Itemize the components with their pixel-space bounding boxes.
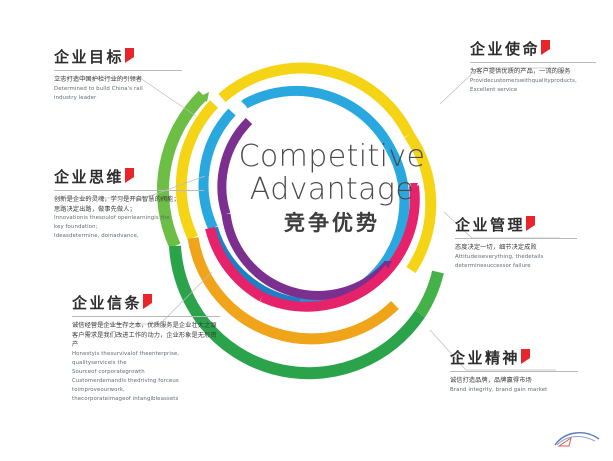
callout-thinking-title: 企业思维 xyxy=(54,166,124,187)
callout-goal-en-1: industry leader xyxy=(54,94,182,103)
callout-goal[interactable]: 企业目标 立志打造中国护栏行业的引领者 Determined to build … xyxy=(54,46,182,103)
callout-mission-title: 企业使命 xyxy=(470,38,540,59)
callout-thinking[interactable]: 企业思维 创新是企业的灵魂，学习是开启智慧的阀能； 思路决定出路，做事先做人； … xyxy=(54,166,204,241)
callout-management-en-1: determinesuccessor failure xyxy=(455,262,577,271)
callout-goal-rule xyxy=(54,70,182,71)
red-flag-icon xyxy=(541,40,550,55)
red-flag-icon xyxy=(526,216,535,231)
callout-management-en-0: Attitudeiseverything, thedetails xyxy=(455,253,577,262)
callout-creed-head: 企业信条 xyxy=(72,292,220,313)
callout-mission-en-0: Providecustomerswithqualityproducts, xyxy=(470,77,596,86)
callout-mission-cn-0: 为客户提供优质的产品，一流的服务 xyxy=(470,67,596,77)
red-flag-icon xyxy=(521,349,530,364)
callout-creed-cn-0: 诚信经营是企业生存之本，优质服务是企业壮大之源 xyxy=(72,321,220,331)
corner-watermark-icon xyxy=(551,425,603,449)
callout-creed-en-1: Sourceof corporategrowth xyxy=(72,368,220,377)
ring-arc-purple xyxy=(222,121,388,295)
callout-thinking-head: 企业思维 xyxy=(54,166,204,187)
callout-goal-title: 企业目标 xyxy=(54,46,124,67)
callout-creed-cn-1: 客户需求是我们改进工作的动力，企业形象是无形资产 xyxy=(72,331,220,350)
callout-spirit-rule xyxy=(450,371,578,372)
infographic-slide: Competitive Advantage 竞争优势 企业目标 立志打造中国护栏… xyxy=(0,0,613,461)
callout-management-title: 企业管理 xyxy=(455,214,525,235)
callout-thinking-rule xyxy=(54,190,204,191)
callout-goal-cn-0: 立志打造中国护栏行业的引领者 xyxy=(54,75,182,85)
callout-thinking-en-1: key foundation; xyxy=(54,223,204,232)
callout-goal-en-0: Determined to build China's rail xyxy=(54,85,182,94)
callout-spirit-cn-0: 诚信打造品牌，品牌赢得市场 xyxy=(450,376,578,386)
callout-management-rule xyxy=(455,238,577,239)
callout-thinking-cn-1: 思路决定出路，做事先做人； xyxy=(54,205,204,215)
callout-mission-en-1: Excellent service xyxy=(470,86,596,95)
callout-management-cn-0: 态度决定一切，细节决定成败 xyxy=(455,243,577,253)
callout-thinking-cn-0: 创新是企业的灵魂，学习是开启智慧的阀能； xyxy=(54,195,204,205)
callout-thinking-en-2: Ideasdetermine, doinadvance, xyxy=(54,232,204,241)
callout-creed-en-0: Honestyis thesurvivalof theenterprise, q… xyxy=(72,350,220,368)
callout-spirit-head: 企业精神 xyxy=(450,347,578,368)
callout-creed-en-2: Customerdemandis thedriving forceus toim… xyxy=(72,377,220,395)
red-flag-icon xyxy=(143,294,152,309)
callout-mission-head: 企业使命 xyxy=(470,38,596,59)
callout-spirit[interactable]: 企业精神 诚信打造品牌，品牌赢得市场 Brand integrity, bran… xyxy=(450,347,578,395)
callout-creed-rule xyxy=(72,316,220,317)
red-flag-icon xyxy=(125,168,134,183)
callout-creed-title: 企业信条 xyxy=(72,292,142,313)
callout-goal-head: 企业目标 xyxy=(54,46,182,67)
callout-creed[interactable]: 企业信条 诚信经营是企业生存之本，优质服务是企业壮大之源 客户需求是我们改进工作… xyxy=(72,292,220,404)
callout-mission-rule xyxy=(470,62,596,63)
callout-mission[interactable]: 企业使命 为客户提供优质的产品，一流的服务 Providecustomerswi… xyxy=(470,38,596,95)
callout-spirit-title: 企业精神 xyxy=(450,347,520,368)
callout-spirit-en-0: Brand integrity, brand gain market xyxy=(450,386,578,395)
callout-management-head: 企业管理 xyxy=(455,214,577,235)
callout-management[interactable]: 企业管理 态度决定一切，细节决定成败 Attitudeiseverything,… xyxy=(455,214,577,271)
callout-creed-en-3: thecorporateimageof intangibleassets xyxy=(72,395,220,404)
callout-thinking-en-0: Innovationis thesoulof openlearningis th… xyxy=(54,214,204,223)
red-flag-icon xyxy=(125,48,134,63)
